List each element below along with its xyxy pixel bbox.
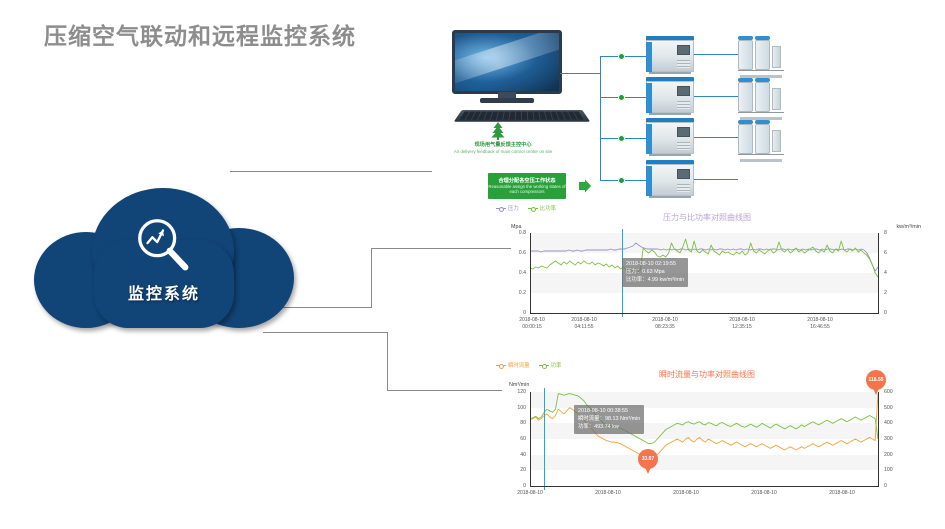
- compressor-base: [649, 72, 691, 74]
- air-compressor-icon: [646, 118, 694, 154]
- legend-item-specific-power[interactable]: 比功率: [528, 204, 556, 212]
- xtick-time: 16:46:55: [810, 324, 829, 330]
- chart2-legend: 瞬时流量 功率: [496, 361, 561, 369]
- tooltip-timestamp: 2018-08-10 00:38:55: [578, 408, 640, 416]
- chart1-ytick: 0: [504, 310, 526, 316]
- monitor-screen: [452, 30, 562, 94]
- slide-canvas: 压缩空气联动和远程监控系统 监控系统: [0, 0, 945, 529]
- compressor-base: [649, 113, 691, 115]
- compressor-vent: [677, 142, 690, 150]
- chart2-y2tick: 600: [884, 389, 893, 395]
- chart2-min-marker[interactable]: 33.87: [638, 449, 658, 469]
- chart2-ytick: 20: [504, 467, 526, 473]
- control-center-note: 现场用气量反馈主控中心 Air delivery feedback of mai…: [444, 142, 562, 154]
- chart1-legend: 压力 比功率: [496, 204, 556, 212]
- tooltip-power: 功率：493.74 kw: [578, 424, 640, 432]
- legend-item-instant-flow[interactable]: 瞬时流量: [496, 361, 530, 369]
- xtick-date: 2018-08-10: [571, 317, 597, 323]
- chart2-max-marker[interactable]: 118.55: [866, 370, 886, 390]
- air-dryer-unit-icon: [738, 122, 784, 162]
- chart2-y2-axis: [878, 392, 879, 487]
- chart1-y2tick: 4: [884, 270, 887, 276]
- compressor-base: [649, 196, 691, 198]
- compressor-to-dryer-link-2: [694, 96, 738, 97]
- chart-magnifier-icon: [132, 214, 194, 276]
- compressor-stripe: [646, 166, 652, 196]
- chart1-y2-axis-unit: kw/m³/min: [896, 224, 921, 230]
- dryer-pipe: [738, 112, 784, 113]
- desktop-monitor-icon: [452, 30, 562, 110]
- chart2-xtick: 2018-08-10: [736, 490, 792, 497]
- bus-trunk: [600, 56, 601, 180]
- compressor-stripe: [646, 42, 652, 72]
- legend-label: 功率: [551, 361, 562, 369]
- dryer-tank: [755, 40, 770, 70]
- compressor-control-panel: [677, 169, 690, 179]
- chart1-y2tick: 2: [884, 290, 887, 296]
- tooltip-specific-power: 比功率：4.99 kw/m³/min: [626, 277, 684, 285]
- flow-power-chart: 瞬时流量 功率 瞬时流量与功率对照曲线图 Nm³/min 2018-08-10 …: [492, 360, 922, 529]
- compressor-vent: [677, 60, 690, 68]
- status-allocation-en: Reasonable assign the working states of …: [488, 184, 566, 194]
- chart2-xtick: 2018-08-10: [580, 490, 636, 497]
- dryer-filter: [772, 88, 781, 110]
- connector-3-horizontal-left: [263, 332, 387, 333]
- chart2-y2tick: 100: [884, 467, 893, 473]
- tooltip-instant-flow: 瞬时流量：98.13 Nm³/min: [578, 416, 640, 424]
- chart1-title: 压力与比功率对照曲线图: [492, 212, 922, 223]
- connector-2-riser: [371, 248, 372, 308]
- monitoring-system-cloud[interactable]: 监控系统: [34, 188, 294, 328]
- chart1-xtick: 2018-08-10 08:23:35: [637, 317, 693, 331]
- chart2-xtick: 2018-08-10: [814, 490, 870, 497]
- legend-item-power[interactable]: 功率: [539, 361, 562, 369]
- tooltip-pressure: 压力：0.63 Mpa: [626, 269, 684, 277]
- chart1-tooltip: 2018-08-10 02:19:55 压力：0.63 Mpa 比功率：4.99…: [622, 258, 688, 287]
- chart1-xtick: 2018-08-10 00:00:15: [504, 317, 560, 331]
- pressure-power-chart: 压力 比功率 压力与比功率对照曲线图 Mpa kw/m³/min 2018-08…: [492, 203, 922, 333]
- dryer-base: [740, 159, 782, 162]
- status-allocation-box: 合理分配各空压工作状态 Reasonable assign the workin…: [488, 173, 566, 199]
- connector-1-horizontal-left: [230, 171, 346, 172]
- connector-3-riser: [387, 332, 388, 390]
- compressor-to-dryer-link-4: [694, 179, 738, 180]
- legend-marker: [496, 365, 506, 366]
- connector-3-horizontal-right: [387, 390, 502, 391]
- chart2-title: 瞬时流量与功率对照曲线图: [492, 369, 922, 380]
- dryer-tank: [738, 124, 753, 154]
- compressor-to-dryer-link-3: [694, 137, 738, 138]
- air-dryer-unit-icon: [738, 80, 784, 120]
- chart1-x-axis: [530, 313, 879, 314]
- compressor-base: [649, 154, 691, 156]
- chart2-ytick: 40: [504, 452, 526, 458]
- dryer-pipe: [738, 70, 784, 71]
- dryer-tank: [755, 82, 770, 112]
- chart1-ytick: 0.6: [504, 250, 526, 256]
- chart1-series-lines: [530, 233, 878, 313]
- chart2-xtick: 2018-08-10: [502, 490, 558, 497]
- chart2-ytick: 100: [504, 405, 526, 411]
- chart2-y-axis-unit: Nm³/min: [509, 382, 529, 388]
- tooltip-timestamp: 2018-08-10 02:19:55: [626, 261, 684, 269]
- compressor-vent: [677, 184, 690, 192]
- dryer-tank-cap: [755, 120, 770, 124]
- dryer-tank: [755, 124, 770, 154]
- chart1-ytick: 0.8: [504, 230, 526, 236]
- compressor-control-panel: [677, 127, 690, 137]
- tree-icon: [490, 122, 506, 140]
- chart1-xtick: 2018-08-10 16:46:55: [792, 317, 848, 331]
- legend-marker: [539, 365, 549, 366]
- dryer-tank-cap: [738, 120, 753, 124]
- chart2-xtick: 2018-08-10: [658, 490, 714, 497]
- xtick-time: 12:35:15: [732, 324, 751, 330]
- cloud-label: 监控系统: [34, 280, 294, 304]
- compressor-to-dryer-link-1: [694, 54, 738, 55]
- chart2-ytick: 0: [504, 483, 526, 489]
- monitor-base: [480, 98, 534, 103]
- chart2-tooltip: 2018-08-10 00:38:55 瞬时流量：98.13 Nm³/min 功…: [574, 405, 644, 434]
- chart2-cursor-line[interactable]: [544, 388, 545, 490]
- connector-1-horizontal-right: [346, 171, 432, 172]
- chart2-y-axis: [530, 392, 531, 487]
- chart2-y2tick: 400: [884, 420, 893, 426]
- marker-value: 118.55: [868, 377, 883, 383]
- chart2-plot-area: 2018-08-10 00:38:55 瞬时流量：98.13 Nm³/min 功…: [530, 392, 878, 486]
- compressor-control-panel: [677, 45, 690, 55]
- compressor-control-panel: [677, 86, 690, 96]
- connector-2-horizontal-right: [371, 248, 511, 249]
- dryer-tank-cap: [755, 36, 770, 40]
- chart1-y-axis: [530, 233, 531, 314]
- chart2-ytick: 80: [504, 420, 526, 426]
- air-dryer-unit-icon: [738, 38, 784, 78]
- chart2-y2tick: 0: [884, 483, 887, 489]
- legend-label: 比功率: [540, 204, 556, 212]
- dryer-tank-cap: [738, 78, 753, 82]
- keyboard-keys: [459, 112, 584, 120]
- dryer-pipe: [738, 154, 784, 155]
- keyboard-icon: [454, 110, 591, 122]
- xtick-date: 2018-08-10: [807, 317, 833, 323]
- xtick-time: 08:23:35: [655, 324, 674, 330]
- legend-item-pressure[interactable]: 压力: [496, 204, 519, 212]
- chart2-ytick: 120: [504, 389, 526, 395]
- dryer-tank-cap: [755, 78, 770, 82]
- dryer-tank: [738, 40, 753, 70]
- legend-label: 瞬时流量: [508, 361, 530, 369]
- dryer-tank-cap: [738, 36, 753, 40]
- xtick-date: 2018-08-10: [729, 317, 755, 323]
- chart1-plot-area: 2018-08-10 02:19:55 压力：0.63 Mpa 比功率：4.99…: [530, 233, 878, 313]
- air-compressor-icon: [646, 160, 694, 196]
- legend-marker: [528, 208, 538, 209]
- marker-value: 33.87: [642, 456, 655, 462]
- node-indicator-2: [618, 94, 625, 101]
- monitor-to-bus-link: [560, 73, 600, 74]
- chart2-y2tick: 500: [884, 405, 893, 411]
- page-title: 压缩空气联动和远程监控系统: [44, 17, 356, 51]
- xtick-date: 2018-08-10: [519, 317, 545, 323]
- node-indicator-3: [618, 135, 625, 142]
- chart1-y2tick: 6: [884, 250, 887, 256]
- chart1-ytick: 0.2: [504, 290, 526, 296]
- node-indicator-1: [618, 53, 625, 60]
- compressor-stripe: [646, 83, 652, 113]
- legend-marker: [496, 208, 506, 209]
- chart1-y2tick: 8: [884, 230, 887, 236]
- xtick-date: 2018-08-10: [652, 317, 678, 323]
- air-compressor-icon: [646, 77, 694, 113]
- air-compressor-icon: [646, 36, 694, 72]
- chart2-x-axis: [530, 486, 879, 487]
- system-topology-diagram: 现场用气量反馈主控中心 Air delivery feedback of mai…: [432, 24, 932, 204]
- chart1-xtick: 2018-08-10 04:11:55: [556, 317, 612, 331]
- arrow-right-icon: [578, 179, 592, 193]
- chart2-y2tick: 300: [884, 436, 893, 442]
- legend-label: 压力: [508, 204, 519, 212]
- dryer-tank: [738, 82, 753, 112]
- chart2-ytick: 60: [504, 436, 526, 442]
- chart1-xtick: 2018-08-10 12:35:15: [714, 317, 770, 331]
- control-center-note-en: Air delivery feedback of main control ce…: [444, 149, 562, 155]
- xtick-time: 04:11:55: [574, 324, 593, 330]
- compressor-stripe: [646, 124, 652, 154]
- chart1-y2tick: 0: [884, 310, 887, 316]
- dryer-filter: [772, 46, 781, 68]
- chart2-y2tick: 200: [884, 452, 893, 458]
- chart1-ytick: 0.4: [504, 270, 526, 276]
- node-indicator-4: [618, 177, 625, 184]
- dryer-filter: [772, 130, 781, 152]
- xtick-time: 00:00:15: [522, 324, 541, 330]
- chart1-y2-axis: [878, 233, 879, 314]
- compressor-vent: [677, 101, 690, 109]
